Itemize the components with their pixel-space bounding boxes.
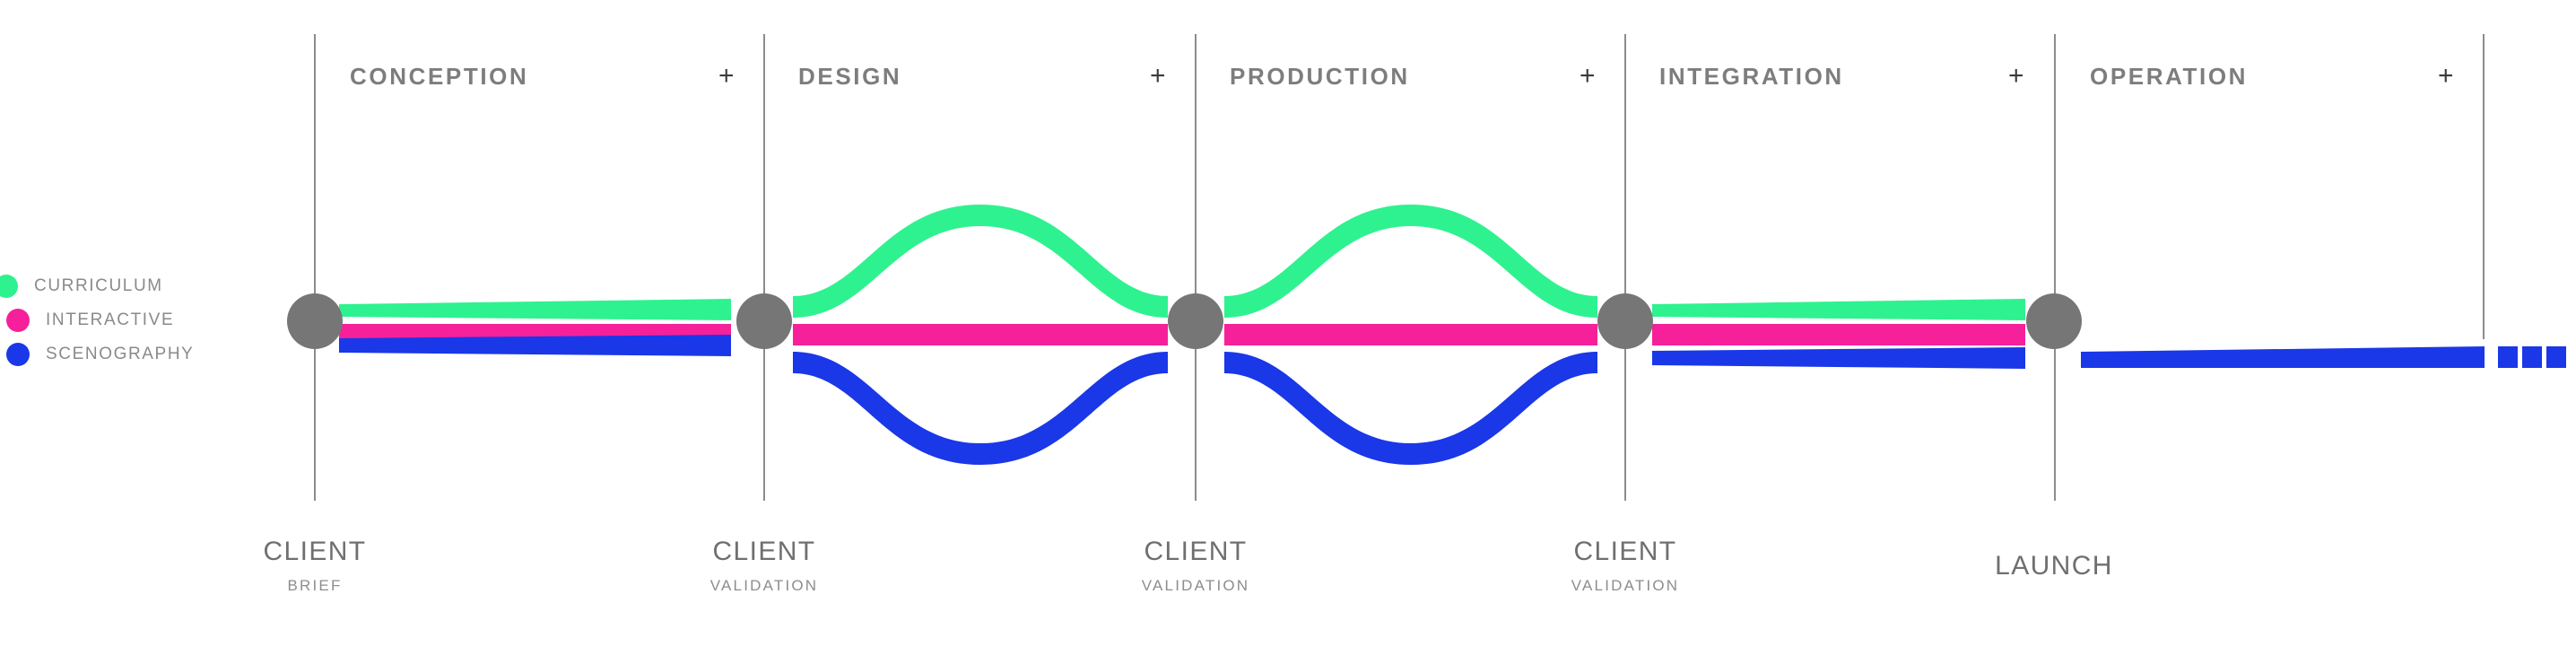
phase-title-operation: OPERATION xyxy=(2090,63,2248,91)
legend-label-curriculum: CURRICULUM xyxy=(34,276,163,296)
phase-divider-5-top xyxy=(2054,34,2056,303)
milestone-title: CLIENT xyxy=(1142,537,1250,567)
phase-divider-4-top xyxy=(1624,34,1626,303)
milestone-caption-launch: LAUNCH xyxy=(1995,551,2113,581)
phase-title-design: DESIGN xyxy=(798,63,901,91)
expand-button-operation[interactable]: + xyxy=(2438,63,2454,90)
phase-divider-4-bottom xyxy=(1624,343,1626,501)
milestone-caption-client-validation-1: CLIENT VALIDATION xyxy=(710,537,819,595)
phase-divider-1-bottom xyxy=(314,343,316,501)
milestone-subtitle: VALIDATION xyxy=(710,577,819,595)
legend: CURRICULUM INTERACTIVE SCENOGRAPHY xyxy=(0,269,269,371)
milestone-subtitle: BRIEF xyxy=(263,577,366,595)
phase-divider-1-top xyxy=(314,34,316,303)
milestone-caption-client-validation-3: CLIENT VALIDATION xyxy=(1571,537,1680,595)
curriculum-color-swatch-icon xyxy=(0,275,18,298)
phase-divider-2-bottom xyxy=(763,343,765,501)
ribbon-tail-dash-3 xyxy=(2546,346,2566,368)
ribbon-curriculum-conception[interactable] xyxy=(339,299,731,320)
process-timeline-diagram: CURRICULUM INTERACTIVE SCENOGRAPHY CONCE… xyxy=(0,0,2576,664)
milestone-node-launch[interactable] xyxy=(2026,293,2082,349)
phase-divider-2-top xyxy=(763,34,765,303)
ribbon-scenography-operation[interactable] xyxy=(2081,346,2485,368)
legend-label-interactive: INTERACTIVE xyxy=(46,310,174,330)
ribbon-interactive-production[interactable] xyxy=(1224,324,1597,345)
expand-button-production[interactable]: + xyxy=(1580,63,1596,90)
milestone-title: CLIENT xyxy=(263,537,366,567)
phase-title-integration: INTEGRATION xyxy=(1659,63,1844,91)
ribbon-tail-dash-1 xyxy=(2498,346,2518,368)
milestone-node-client-brief[interactable] xyxy=(287,293,343,349)
phase-divider-6-end xyxy=(2483,34,2485,339)
milestone-caption-client-brief: CLIENT BRIEF xyxy=(263,537,366,595)
phase-title-conception: CONCEPTION xyxy=(350,63,528,91)
legend-item-scenography[interactable]: SCENOGRAPHY xyxy=(0,337,269,371)
ribbon-curriculum-design[interactable] xyxy=(793,205,1168,318)
milestone-node-client-validation-1[interactable] xyxy=(736,293,792,349)
milestone-title: CLIENT xyxy=(1571,537,1680,567)
milestone-caption-client-validation-2: CLIENT VALIDATION xyxy=(1142,537,1250,595)
ribbon-scenography-production[interactable] xyxy=(1224,352,1597,465)
expand-button-design[interactable]: + xyxy=(1150,63,1166,90)
milestone-title: CLIENT xyxy=(710,537,819,567)
phase-divider-5-bottom xyxy=(2054,343,2056,501)
milestone-subtitle: VALIDATION xyxy=(1142,577,1250,595)
expand-button-conception[interactable]: + xyxy=(718,63,735,90)
milestone-title: LAUNCH xyxy=(1995,551,2113,581)
milestone-node-client-validation-3[interactable] xyxy=(1597,293,1653,349)
interactive-color-swatch-icon xyxy=(6,309,30,332)
ribbon-curriculum-integration[interactable] xyxy=(1652,299,2025,320)
ribbon-interactive-integration[interactable] xyxy=(1652,324,2025,345)
track-ribbons xyxy=(0,0,2576,664)
ribbon-scenography-integration[interactable] xyxy=(1652,347,2025,369)
milestone-subtitle: VALIDATION xyxy=(1571,577,1680,595)
milestone-node-client-validation-2[interactable] xyxy=(1168,293,1223,349)
legend-item-curriculum[interactable]: CURRICULUM xyxy=(0,269,269,303)
legend-label-scenography: SCENOGRAPHY xyxy=(46,345,194,364)
ribbon-interactive-design[interactable] xyxy=(793,324,1168,345)
ribbon-curriculum-production[interactable] xyxy=(1224,205,1597,318)
ribbon-scenography-design[interactable] xyxy=(793,352,1168,465)
legend-item-interactive[interactable]: INTERACTIVE xyxy=(0,303,269,337)
phase-divider-3-bottom xyxy=(1195,343,1197,501)
phase-title-production: PRODUCTION xyxy=(1230,63,1410,91)
ribbon-tail-dash-2 xyxy=(2522,346,2542,368)
ribbon-scenography-conception[interactable] xyxy=(339,335,731,356)
phase-divider-3-top xyxy=(1195,34,1197,303)
expand-button-integration[interactable]: + xyxy=(2008,63,2024,90)
scenography-color-swatch-icon xyxy=(6,343,30,366)
